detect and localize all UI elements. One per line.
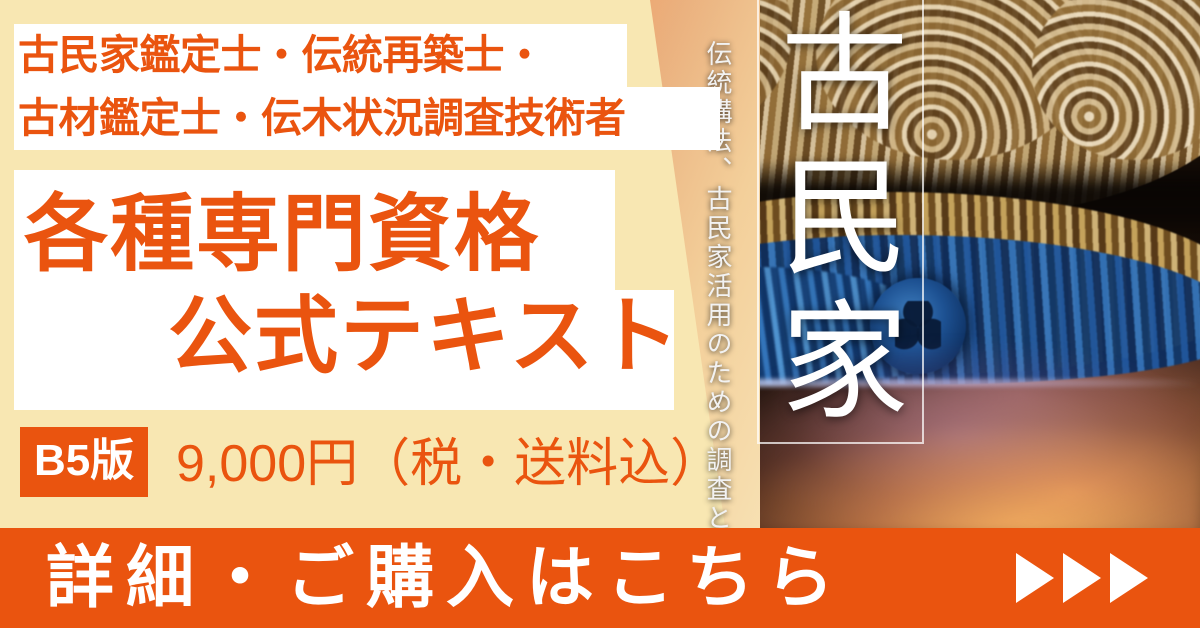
promo-banner: 古民家 伝統構法、古民家活用のための調査と再生の 古民家鑑定士・伝統再築士・ 古… [0, 0, 1200, 628]
cta-label[interactable]: 詳細・ご購入はこちら [46, 529, 1046, 627]
format-badge: B5版 [20, 427, 148, 497]
triangle-right-icon [1110, 553, 1148, 603]
cover-title-text: 古民家 [770, 6, 906, 438]
cta-arrows [1016, 529, 1148, 627]
triangle-right-icon [1016, 553, 1054, 603]
triangle-right-icon [1063, 553, 1101, 603]
certifications-line-2: 古材鑑定士・伝木状況調査技術者 [18, 87, 718, 150]
certifications-line-1: 古民家鑑定士・伝統再築士・ [18, 24, 718, 87]
headline-line-1: 各種専門資格 [24, 182, 540, 286]
price-text: 9,000円（税・送料込） [176, 430, 722, 498]
headline-line-2: 公式テキスト [168, 284, 681, 388]
